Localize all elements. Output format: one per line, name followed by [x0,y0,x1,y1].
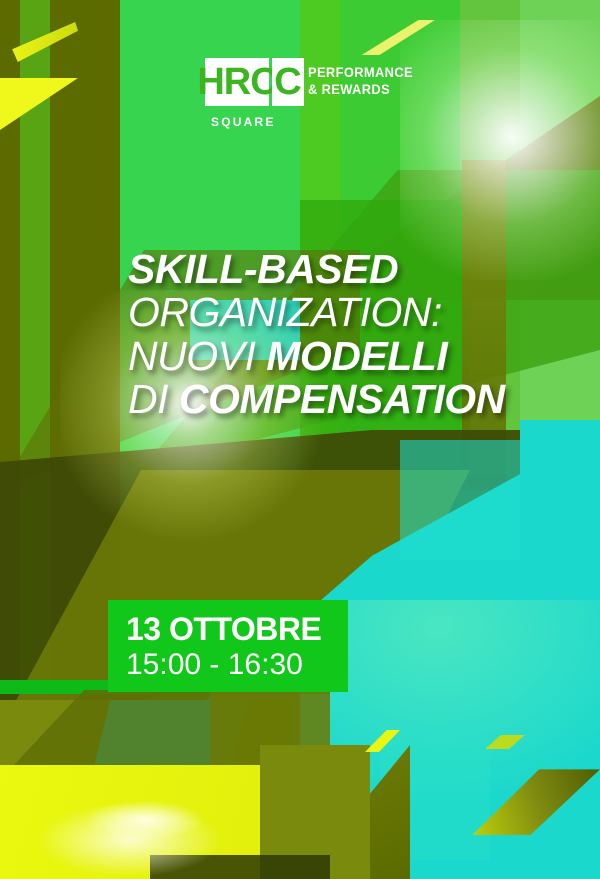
shape-cyan-block-a [400,440,520,560]
headline-line-1: SKILL-BASED [128,248,568,291]
headline-line-3: NUOVI MODELLI [128,335,568,378]
glow-topright [400,20,600,280]
page-title: SKILL-BASED ORGANIZATION: NUOVI MODELLI … [128,248,568,422]
logo-letters: HRC [197,63,276,101]
headline-line-3-light: NUOVI [128,333,266,379]
event-details: 13 OTTOBRE 15:00 - 16:30 [126,612,356,682]
shape-cyan-right-top [520,420,600,550]
headline-line-4-light: DI [128,376,179,422]
tagline-line-1: PERFORMANCE [308,64,455,81]
logo-subtitle: SQUARE [211,115,405,129]
headline-line-4: DI COMPENSATION [128,378,568,421]
tagline-line-2: & REWARDS [308,81,455,98]
logo-letter-c: C [274,63,301,101]
logo-box-c: C [272,58,304,106]
event-poster: HRC C SQUARE PERFORMANCE & REWARDS SKILL… [0,0,600,879]
headline-line-2: ORGANIZATION: [128,291,568,334]
headline-line-4-bold: COMPENSATION [179,376,505,422]
brand-tagline: PERFORMANCE & REWARDS [308,64,468,98]
event-date: 13 OTTOBRE [126,612,356,648]
logo-box-hr: HRC [205,58,269,106]
headline-line-3-bold: MODELLI [266,333,447,379]
glow-bottomleft [30,800,230,879]
event-time: 15:00 - 16:30 [126,648,356,683]
